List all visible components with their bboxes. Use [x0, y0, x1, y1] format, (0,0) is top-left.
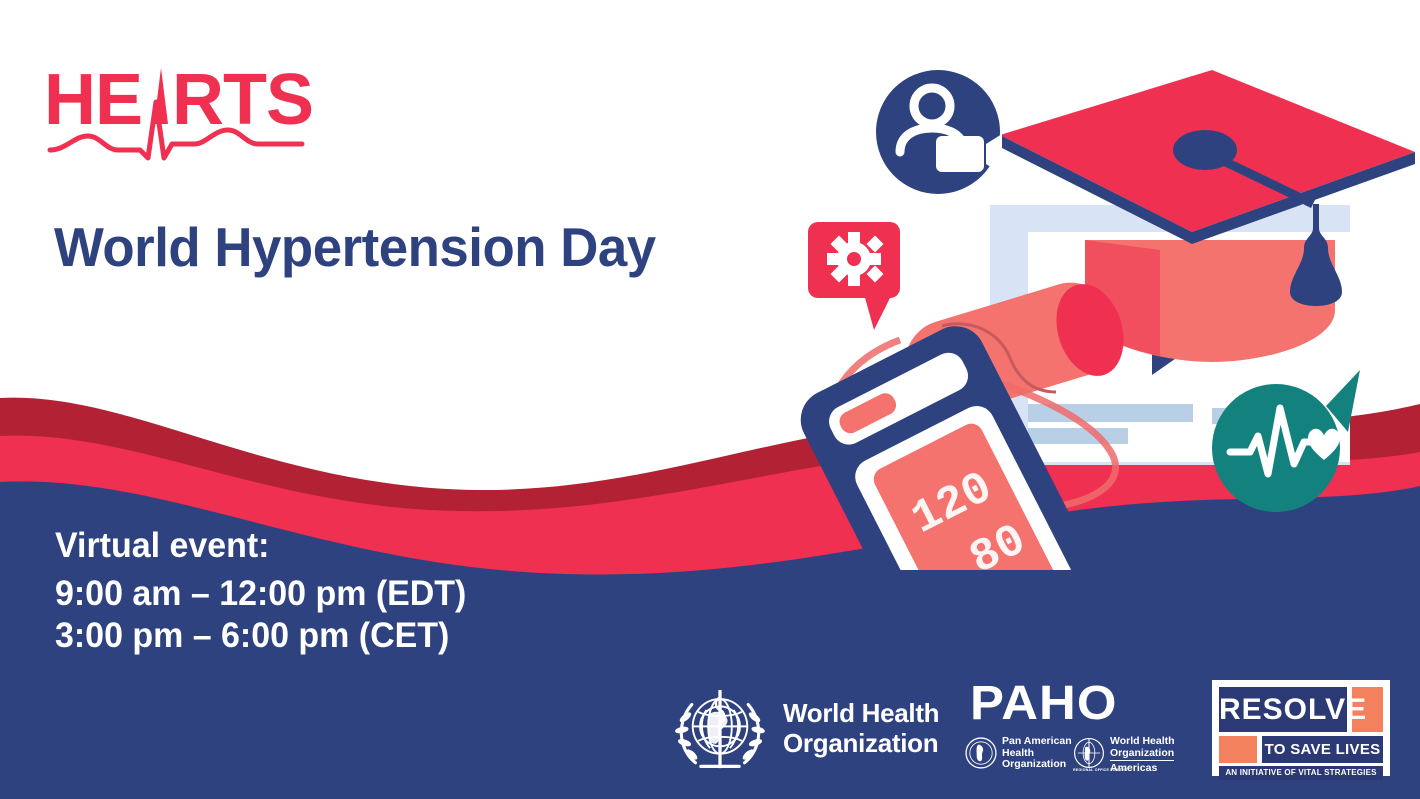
paho-line3: Organization	[1002, 759, 1072, 771]
paho-emblem-icon	[965, 737, 997, 769]
video-camera-body-icon	[936, 136, 984, 172]
who-logo: World Health Organization	[670, 682, 960, 778]
hearts-logo-text-left: HE	[44, 62, 142, 140]
resolve-inner: RESOLVE TO SAVE LIVES AN INITIATIVE OF V…	[1219, 687, 1383, 769]
resolve-wordmark: RESOLVE	[1219, 687, 1347, 732]
resolve-row-2: TO SAVE LIVES	[1219, 736, 1383, 763]
event-heading: Virtual event:	[55, 525, 466, 567]
resolve-row-1: RESOLVE	[1219, 687, 1383, 732]
paho-logo: PAHO Pan American Health Organization Wo…	[965, 680, 1190, 780]
paho-line1: Pan American	[1002, 736, 1072, 748]
settings-badge	[808, 222, 900, 330]
resolve-tagline: TO SAVE LIVES	[1262, 736, 1383, 763]
event-info: Virtual event: 9:00 am – 12:00 pm (EDT) …	[55, 525, 479, 657]
settings-bubble-tail	[864, 294, 892, 330]
webinar-badge	[876, 70, 1002, 194]
who-wordmark-line1: World Health	[783, 698, 939, 728]
resolve-initiative-text: AN INITIATIVE OF VITAL STRATEGIES	[1219, 766, 1383, 780]
who-wordmark-line2: Organization	[783, 728, 939, 758]
paho-who-line1: World Health	[1110, 736, 1175, 748]
paho-regional-office-text: REGIONAL OFFICE FOR THE	[1073, 768, 1127, 772]
event-time-edt: 9:00 am – 12:00 pm (EDT)	[55, 573, 466, 615]
resolve-row-3: AN INITIATIVE OF VITAL STRATEGIES	[1219, 766, 1383, 780]
paho-who-line2: Organization	[1110, 748, 1174, 762]
hearts-logo-text-right: RTS	[172, 62, 313, 140]
poster-canvas: HE RTS World Hypertension Day Virtual ev…	[0, 0, 1420, 799]
resolve-orange-block-2	[1219, 736, 1257, 763]
logo-strip: World Health Organization PAHO Pan Ameri…	[660, 676, 1400, 786]
who-wordmark: World Health Organization	[783, 698, 939, 758]
screen-text-bar-2	[1028, 428, 1128, 444]
paho-pan-american-text: Pan American Health Organization	[1002, 736, 1072, 771]
paho-wordmark: PAHO	[970, 680, 1117, 728]
page-title: World Hypertension Day	[54, 215, 656, 279]
illustration-group: 120 80	[760, 40, 1420, 570]
resolve-to-save-lives-logo: RESOLVE TO SAVE LIVES AN INITIATIVE OF V…	[1212, 680, 1390, 776]
hearts-logo: HE RTS	[44, 62, 344, 174]
event-time-cet: 3:00 pm – 6:00 pm (CET)	[55, 615, 466, 657]
who-emblem-small-icon	[1073, 737, 1105, 769]
who-emblem-icon	[670, 684, 770, 776]
gear-icon-hole	[847, 252, 861, 266]
